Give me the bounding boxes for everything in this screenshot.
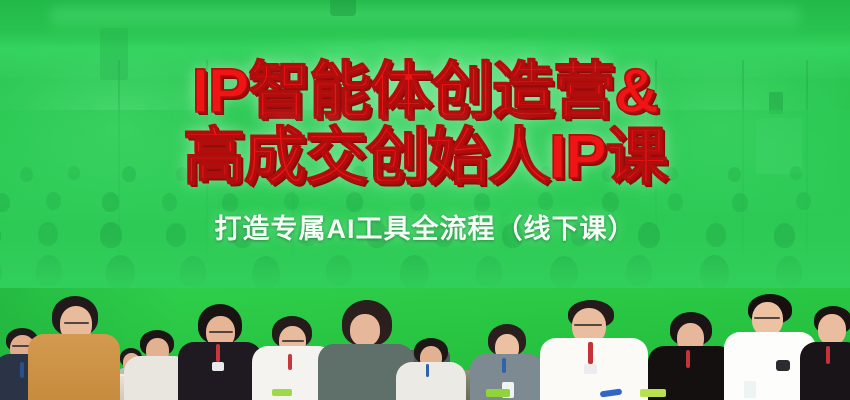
title-line-1: IP智能体创造营& [192,60,658,123]
banner-text-block: IP智能体创造营& 高成交创始人IP课 打造专属AI工具全流程（线下课） [0,0,850,300]
person-figure [396,338,466,400]
banner-subtitle: 打造专属AI工具全流程（线下课） [215,207,636,246]
water-bottle [744,381,756,398]
sticky-note [486,389,510,397]
promo-banner: IP智能体创造营& 高成交创始人IP课 打造专属AI工具全流程（线下课） [0,0,850,400]
seminar-photo-strip [0,288,850,400]
sticky-note [640,389,666,397]
title-line-2: 高成交创始人IP课 [183,126,667,189]
person-figure [648,312,734,400]
person-figure [540,300,648,400]
sticky-note [272,389,292,396]
person-figure [178,304,262,400]
person-figure [800,306,850,400]
person-figure [28,296,120,400]
